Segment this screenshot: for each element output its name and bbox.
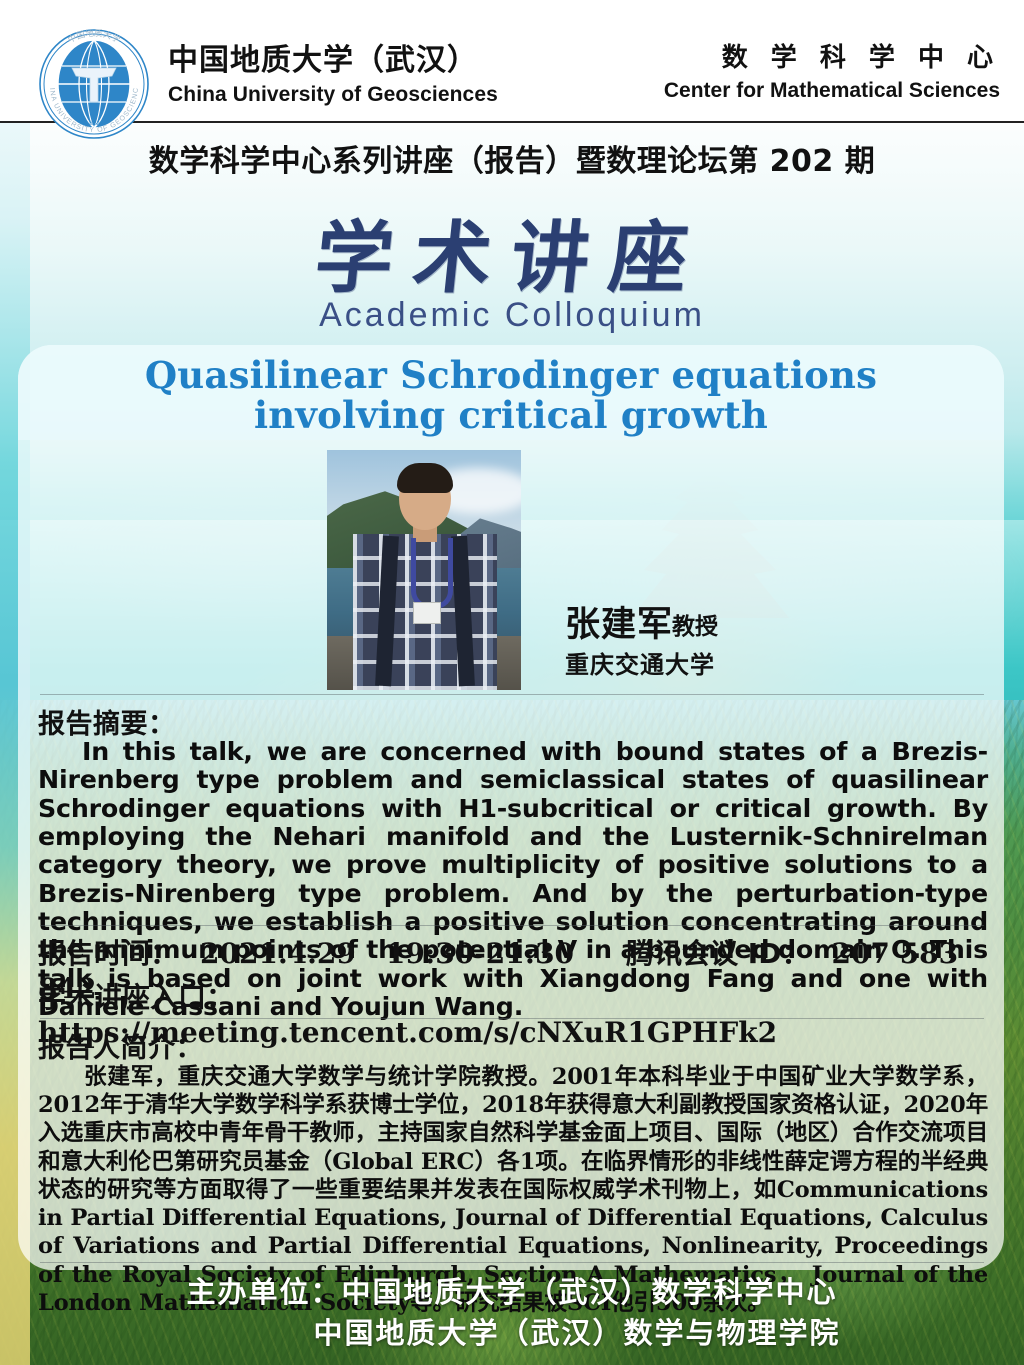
photo-badge <box>413 602 441 624</box>
cug-seal-logo-icon: 1952 中国地质大学 CHINA UNIVERSITY OF GEOSCIEN… <box>38 28 150 140</box>
university-name-en: China University of Geosciences <box>168 83 498 107</box>
poster-root: 1952 中国地质大学 CHINA UNIVERSITY OF GEOSCIEN… <box>0 0 1024 1365</box>
meeting-link-label: 学术讲座入口： <box>38 981 234 1014</box>
footer-organizers: 主办单位：中国地质大学（武汉）数学科学中心 中国地质大学（武汉）数学与物理学院 <box>0 1272 1024 1354</box>
talk-title-line2: involving critical growth <box>40 396 982 436</box>
footer-line-1: 主办单位：中国地质大学（武汉）数学科学中心 <box>0 1272 1024 1313</box>
divider-above-bio <box>40 1018 984 1019</box>
university-name-block: 中国地质大学（武汉） China University of Geoscienc… <box>168 44 498 107</box>
university-name-cn: 中国地质大学（武汉） <box>168 44 498 79</box>
speaker-photo <box>327 450 521 690</box>
divider-above-footer <box>40 1262 984 1263</box>
bio-label: 报告人简介： <box>38 1026 203 1065</box>
banner-subtitle: Academic Colloquium <box>0 296 1024 335</box>
divider-above-abstract <box>40 694 984 695</box>
center-name-cn: 数 学 科 学 中 心 <box>664 44 1000 74</box>
speaker-name: 张建军 <box>565 596 673 647</box>
photo-lanyard <box>411 538 453 609</box>
speaker-affiliation: 重庆交通大学 <box>565 645 715 680</box>
series-line: 数学科学中心系列讲座（报告）暨数理论坛第 202 期 <box>0 136 1024 180</box>
meeting-date: 2021.4.29 <box>200 937 356 970</box>
banner-calligraphy-title: 学术讲座 <box>0 196 1024 308</box>
speaker-rank: 教授 <box>672 607 718 641</box>
talk-title: Quasilinear Schrodinger equations involv… <box>40 356 982 436</box>
center-name-en: Center for Mathematical Sciences <box>664 79 1000 103</box>
photo-hair <box>397 463 453 493</box>
meeting-time-range: 19:30-21:30 <box>386 937 574 970</box>
svg-text:1952: 1952 <box>88 121 99 127</box>
meeting-id-label: 腾讯会议 ID： <box>626 937 809 970</box>
center-name-block: 数 学 科 学 中 心 Center for Mathematical Scie… <box>664 44 1000 103</box>
abstract-label: 报告摘要： <box>38 702 176 741</box>
header-divider <box>0 121 1024 123</box>
divider-above-meeting <box>40 925 984 926</box>
meeting-time-label: 报告时间： <box>38 937 178 970</box>
talk-title-line1: Quasilinear Schrodinger equations <box>40 356 982 396</box>
footer-line-2: 中国地质大学（武汉）数学与物理学院 <box>0 1313 1024 1354</box>
